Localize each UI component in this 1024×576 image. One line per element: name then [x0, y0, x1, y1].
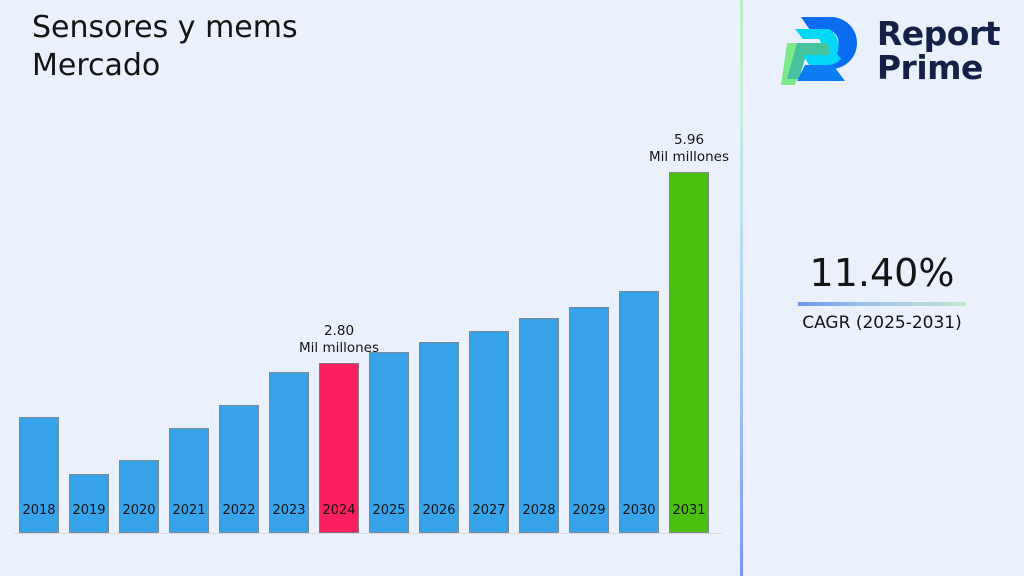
x-axis-tick-2021: 2021 [172, 503, 205, 519]
bar-column-2020: 2020 [119, 172, 159, 533]
x-axis-tick-2019: 2019 [72, 503, 105, 519]
bar-column-2027: 2027 [469, 172, 509, 533]
bar-value-label-2031: 5.96 Mil millones [624, 132, 754, 166]
x-axis-tick-2023: 2023 [272, 503, 305, 519]
x-axis-tick-2025: 2025 [372, 503, 405, 519]
cagr-divider-rule [798, 302, 966, 306]
x-axis-tick-2018: 2018 [22, 503, 55, 519]
x-axis-tick-2027: 2027 [472, 503, 505, 519]
bar-column-2031: 5.96 Mil millones2031 [669, 172, 709, 533]
brand-wordmark: Report Prime [877, 17, 1000, 85]
x-axis-tick-2024: 2024 [322, 503, 355, 519]
bar-2030[interactable] [619, 291, 659, 533]
bar-column-2028: 2028 [519, 172, 559, 533]
bar-column-2021: 2021 [169, 172, 209, 533]
x-axis-tick-2022: 2022 [222, 503, 255, 519]
cagr-caption: CAGR (2025-2031) [740, 312, 1024, 334]
report-prime-logo-icon [779, 11, 863, 91]
bar-column-2030: 2030 [619, 172, 659, 533]
x-axis-tick-2029: 2029 [572, 503, 605, 519]
bar-chart: 2018201920202021202220232.80 Mil millone… [0, 0, 740, 576]
x-axis-tick-2030: 2030 [622, 503, 655, 519]
bar-column-2018: 2018 [19, 172, 59, 533]
x-axis-tick-2020: 2020 [122, 503, 155, 519]
bar-2029[interactable] [569, 307, 609, 533]
bar-2020[interactable] [119, 460, 159, 533]
bar-column-2029: 2029 [569, 172, 609, 533]
bar-column-2025: 2025 [369, 172, 409, 533]
bar-column-2019: 2019 [69, 172, 109, 533]
bar-column-2026: 2026 [419, 172, 459, 533]
cagr-panel: 11.40% CAGR (2025-2031) [740, 250, 1024, 334]
cagr-value: 11.40% [740, 250, 1024, 296]
bar-column-2022: 2022 [219, 172, 259, 533]
x-axis-tick-2028: 2028 [522, 503, 555, 519]
brand-logo: Report Prime [779, 8, 1000, 94]
x-axis-tick-2031: 2031 [672, 503, 705, 519]
bar-2031[interactable] [669, 172, 709, 533]
bar-2028[interactable] [519, 318, 559, 533]
x-axis-tick-2026: 2026 [422, 503, 455, 519]
x-axis-line [14, 533, 722, 534]
bar-column-2024: 2.80 Mil millones2024 [319, 172, 359, 533]
